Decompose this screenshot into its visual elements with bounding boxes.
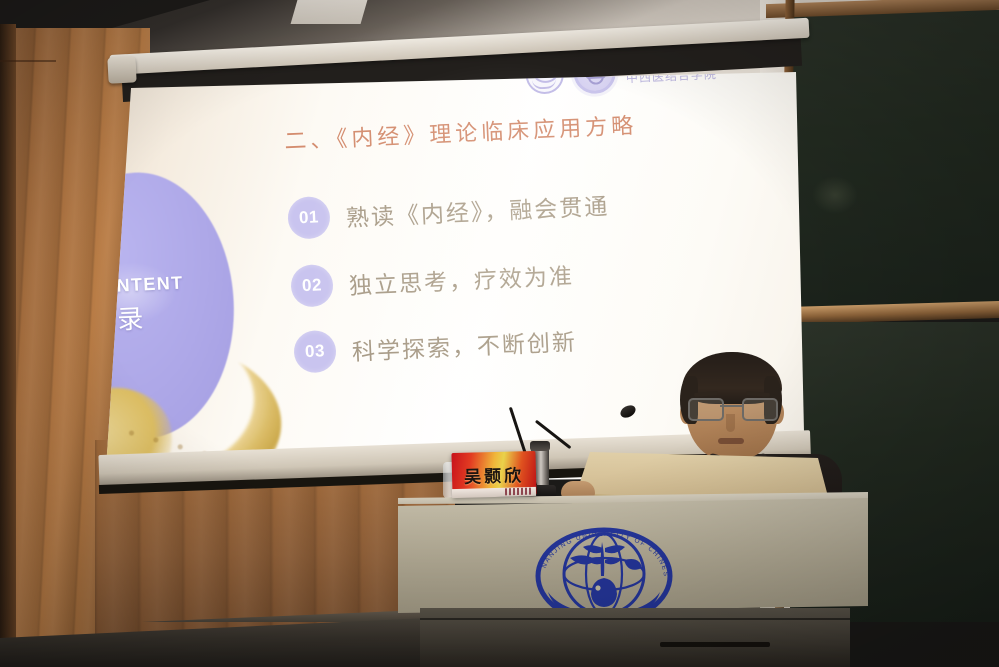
slide-item-1: 01 熟读《内经》，融会贯通 bbox=[287, 183, 610, 240]
wood-panel-seam bbox=[0, 60, 56, 62]
item-number-badge: 02 bbox=[290, 264, 334, 308]
wood-wall-corner-edge bbox=[0, 24, 16, 667]
slide-title: 二、《内经》理论临床应用方略 bbox=[284, 108, 638, 156]
content-circle-chinese-label: 目录 bbox=[105, 294, 249, 338]
presenter-nose bbox=[726, 414, 735, 432]
podium-base-seam bbox=[420, 618, 850, 620]
glasses-lens-right bbox=[742, 398, 778, 421]
glasses-lens-left bbox=[688, 398, 724, 421]
podium-base-cabinet bbox=[420, 608, 850, 667]
projection-screen-roller-cap bbox=[107, 56, 136, 83]
thermos-cap bbox=[530, 441, 550, 451]
item-number-badge: 01 bbox=[287, 196, 331, 240]
item-text: 独立思考，疗效为准 bbox=[348, 257, 574, 301]
glasses-bridge bbox=[720, 405, 742, 407]
ceiling-vent bbox=[291, 0, 368, 24]
name-plate-small-logo bbox=[505, 488, 531, 496]
chalkboard-upper bbox=[786, 10, 999, 310]
slide-item-2: 02 独立思考，疗效为准 bbox=[290, 253, 575, 308]
slide-item-3: 03 科学探索，不断创新 bbox=[293, 319, 578, 374]
chalkboard-glare bbox=[812, 176, 858, 214]
item-number-badge: 03 bbox=[293, 330, 337, 374]
podium-cabinet-handle[interactable] bbox=[660, 642, 770, 647]
name-plate-text: 吴颢欣 bbox=[464, 461, 525, 488]
item-text: 科学探索，不断创新 bbox=[351, 323, 577, 367]
item-text: 熟读《内经》，融会贯通 bbox=[345, 187, 610, 233]
presenter-mouth bbox=[718, 438, 744, 444]
lecture-hall-photo: CONTENT 目录 中 医 学 院 中西医结合学院 二、《内经》理论临床应用方… bbox=[0, 0, 999, 667]
